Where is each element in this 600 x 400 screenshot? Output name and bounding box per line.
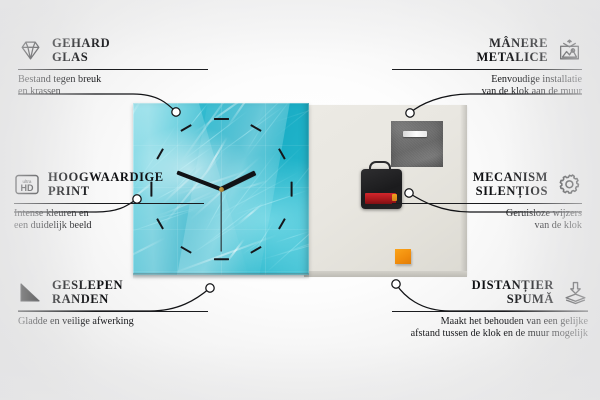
hanger-texture — [391, 121, 443, 167]
picture-frame-icon — [557, 38, 582, 63]
feature-header: ultra HD HOOGWAARDIGE PRINT — [14, 170, 204, 198]
feature-description: Bestand tegen breuk en krassen — [18, 74, 208, 99]
feature-title: GEHARD GLAS — [52, 36, 110, 64]
feature-hoogwaardige-print: ultra HD HOOGWAARDIGE PRINT Intense kleu… — [14, 170, 204, 233]
feature-description: Intense kleuren en een duidelijk beeld — [14, 208, 204, 233]
feature-divider — [392, 311, 588, 312]
feature-divider — [18, 311, 208, 312]
feature-header: MECANISM SILENȚIOS — [392, 170, 582, 198]
clock-back-panel-edge — [304, 271, 467, 277]
feature-manere-metalice: MÂNERE METALICE Eenvoudige insta — [392, 36, 582, 99]
feature-title: DISTANȚIER SPUMĂ — [472, 278, 554, 306]
feature-header: GEHARD GLAS — [18, 36, 208, 64]
ultra-hd-icon: ultra HD — [14, 172, 39, 197]
spacer-arrow-icon — [563, 280, 588, 305]
feature-description: Geruisloze wijzers van de klok — [392, 208, 582, 233]
feature-gehard-glas: GEHARD GLAS Bestand tegen breuk en krass… — [18, 36, 208, 99]
feature-title: GESLEPEN RANDEN — [52, 278, 123, 306]
svg-text:HD: HD — [21, 183, 34, 193]
feature-distantier-spuma: DISTANȚIER SPUMĂ Maakt het behouden van … — [392, 278, 588, 341]
feature-title: MECANISM SILENȚIOS — [473, 170, 548, 198]
feature-title: HOOGWAARDIGE PRINT — [48, 170, 164, 198]
feature-divider — [18, 69, 208, 70]
feature-header: DISTANȚIER SPUMĂ — [392, 278, 588, 306]
feature-divider — [392, 203, 582, 204]
feature-header: MÂNERE METALICE — [392, 36, 582, 64]
feature-description: Gladde en veilige afwerking — [18, 316, 208, 328]
hanger-slot — [403, 131, 427, 137]
gear-icon — [557, 172, 582, 197]
feature-mecanism-silentios: MECANISM SILENȚIOS Geruisloze wijzers va… — [392, 170, 582, 233]
feature-divider — [392, 69, 582, 70]
diamond-icon — [18, 38, 43, 63]
feature-title: MÂNERE METALICE — [476, 36, 548, 64]
feature-description: Eenvoudige installatie van de klok aan d… — [392, 74, 582, 99]
metal-hanger-plate — [391, 121, 443, 167]
feature-description: Maakt het behouden van een gelijke afsta… — [392, 316, 588, 341]
ground-edges-icon — [18, 280, 43, 305]
feature-geslepen-randen: GESLEPEN RANDEN Gladde en veilige afwerk… — [18, 278, 208, 328]
feature-divider — [14, 203, 204, 204]
feature-header: GESLEPEN RANDEN — [18, 278, 208, 306]
foam-spacer — [395, 249, 411, 264]
product-infographic: GEHARD GLAS Bestand tegen breuk en krass… — [0, 0, 600, 400]
